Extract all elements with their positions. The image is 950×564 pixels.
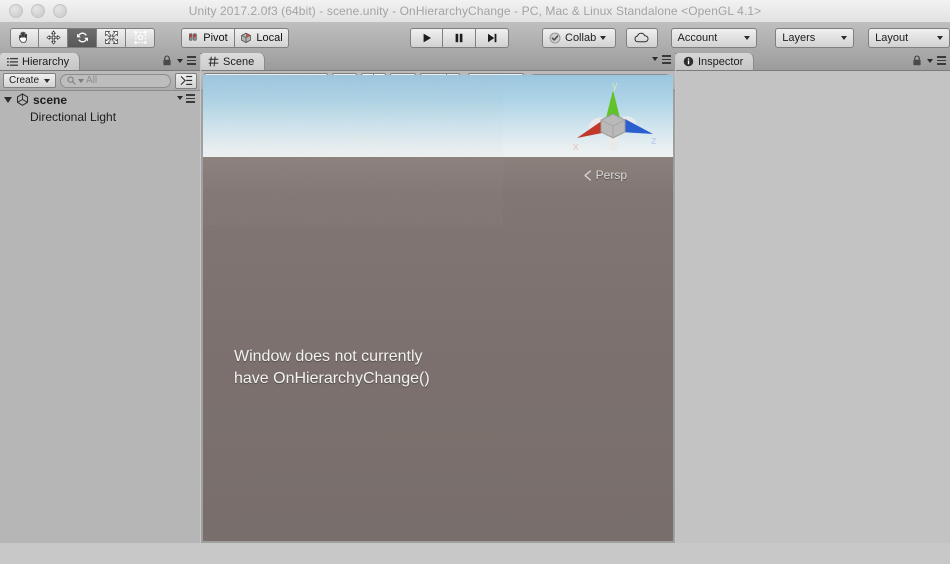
rect-tool-button[interactable] (126, 28, 155, 48)
lock-icon[interactable] (162, 55, 172, 66)
hierarchy-sort-button[interactable] (175, 73, 197, 89)
pivot-icon (188, 32, 199, 43)
play-icon (421, 32, 433, 44)
gizmo-axis-y-label: y (612, 80, 618, 92)
playback-controls (410, 28, 509, 48)
scene-view-gizmo[interactable]: y z x (563, 80, 663, 170)
hierarchy-toolbar: Create All (0, 71, 200, 91)
layers-label: Layers (782, 32, 823, 44)
scene-overlay-message: Window does not currently have OnHierarc… (234, 346, 430, 390)
gizmo-axis-x-label: x (573, 141, 579, 153)
chevron-down-icon (841, 36, 847, 40)
cloud-icon (633, 32, 650, 44)
pause-button[interactable] (443, 28, 476, 48)
layout-dropdown[interactable]: Layout (868, 28, 950, 48)
scene-viewport[interactable]: Persp y z x Window do (203, 75, 673, 541)
window-title: Unity 2017.2.0f3 (64bit) - scene.unity -… (0, 4, 950, 18)
hierarchy-tab-tools (162, 55, 196, 66)
chevron-down-icon (744, 36, 750, 40)
tab-inspector[interactable]: Inspector (676, 53, 754, 70)
layout-label: Layout (875, 32, 916, 44)
lock-icon (582, 170, 592, 181)
chevron-down-icon (937, 36, 943, 40)
tab-scene[interactable]: Scene (201, 53, 265, 70)
scene-tab-bar: Scene (201, 53, 675, 71)
hierarchy-row-directional-light[interactable]: Directional Light (0, 108, 200, 125)
hierarchy-row-label: scene (33, 93, 67, 107)
tab-hierarchy[interactable]: Hierarchy (0, 53, 80, 70)
play-button[interactable] (410, 28, 443, 48)
scene-grid-icon (208, 56, 219, 67)
search-icon (67, 76, 76, 85)
unity-editor-window: Unity 2017.2.0f3 (64bit) - scene.unity -… (0, 0, 950, 564)
panel-menu-icon[interactable] (927, 56, 946, 65)
hand-icon (17, 30, 32, 45)
hierarchy-tab-bar: Hierarchy (0, 53, 200, 71)
rotate-tool-button[interactable] (68, 28, 97, 48)
move-arrows-icon (46, 30, 61, 45)
overlay-line-1: Window does not currently (234, 346, 430, 368)
hierarchy-tree[interactable]: scene Directional Light (0, 91, 200, 561)
main-toolbar: Pivot Local (0, 22, 950, 54)
hierarchy-search-text: All (86, 75, 97, 86)
tab-inspector-label: Inspector (698, 56, 743, 68)
step-button[interactable] (476, 28, 509, 48)
hand-tool-button[interactable] (10, 28, 39, 48)
status-bar (0, 543, 950, 564)
pivot-label: Pivot (203, 32, 227, 44)
hierarchy-row-label: Directional Light (30, 110, 116, 124)
inspector-panel: Inspector (676, 53, 950, 543)
scene-tab-tools (652, 55, 671, 64)
hierarchy-row-scene[interactable]: scene (0, 91, 200, 108)
cube-icon (240, 32, 252, 44)
account-dropdown[interactable]: Account (671, 28, 758, 48)
info-icon (683, 56, 694, 67)
chevron-down-icon (600, 36, 606, 40)
scene-noise-overlay (203, 75, 503, 225)
perspective-text: Persp (596, 168, 627, 182)
move-tool-button[interactable] (39, 28, 68, 48)
local-label: Local (256, 32, 282, 44)
account-label: Account (678, 32, 726, 44)
create-dropdown[interactable]: Create (3, 73, 56, 88)
local-toggle-button[interactable]: Local (235, 28, 289, 48)
tab-hierarchy-label: Hierarchy (22, 56, 69, 68)
hierarchy-icon (7, 57, 18, 67)
title-bar: Unity 2017.2.0f3 (64bit) - scene.unity -… (0, 0, 950, 23)
transform-tools-group (10, 28, 155, 48)
search-filter-chevron-icon (78, 79, 84, 83)
scale-icon (104, 30, 119, 45)
gizmo-axis-z-label: z (651, 135, 657, 147)
collab-label: Collab (565, 32, 596, 44)
rotate-icon (75, 30, 90, 45)
collab-button[interactable]: Collab (542, 28, 616, 48)
layers-dropdown[interactable]: Layers (775, 28, 854, 48)
collab-check-icon (549, 32, 561, 44)
scene-panel: Scene Shaded 2D (201, 53, 675, 543)
lock-icon[interactable] (912, 55, 922, 66)
scale-tool-button[interactable] (97, 28, 126, 48)
sort-hierarchy-icon (180, 75, 193, 86)
scene-context-menu-icon[interactable] (177, 94, 195, 103)
disclosure-triangle-icon[interactable] (4, 97, 12, 103)
inspector-tab-tools (912, 55, 946, 66)
pause-icon (453, 32, 465, 44)
overlay-line-2: have OnHierarchyChange() (234, 368, 430, 390)
panel-menu-icon[interactable] (177, 56, 196, 65)
hierarchy-panel: Hierarchy Create (0, 53, 200, 543)
cloud-services-button[interactable] (626, 28, 658, 48)
panel-menu-icon[interactable] (652, 55, 671, 64)
pivot-rotation-group: Pivot Local (181, 28, 289, 48)
scene-perspective-label[interactable]: Persp (582, 168, 627, 182)
unity-scene-icon (16, 93, 29, 106)
create-label: Create (9, 75, 39, 86)
chevron-down-icon (44, 79, 50, 83)
inspector-tab-bar: Inspector (676, 53, 950, 71)
step-icon (486, 32, 498, 44)
inspector-content (676, 71, 950, 543)
rect-transform-icon (133, 30, 148, 45)
hierarchy-search-input[interactable]: All (60, 74, 171, 88)
tab-scene-label: Scene (223, 56, 254, 68)
pivot-toggle-button[interactable]: Pivot (181, 28, 235, 48)
